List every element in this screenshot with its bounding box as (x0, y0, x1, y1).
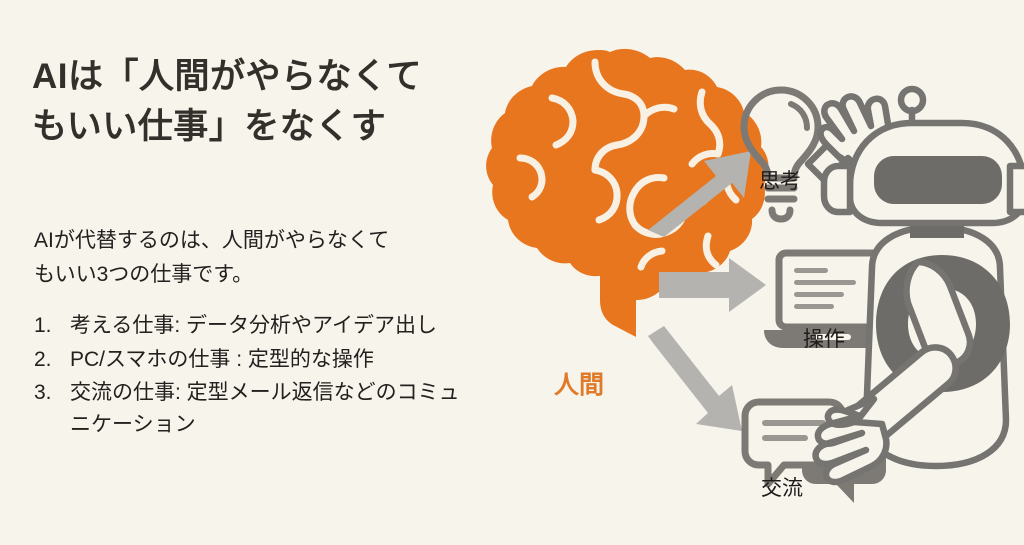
diagram-area: 人間 思考 操作 交流 (476, 0, 1024, 545)
list-item-text: 考える仕事: データ分析やアイデア出し (70, 310, 476, 342)
list-item-number: 3. (32, 377, 70, 409)
label-human: 人間 (554, 365, 604, 401)
list-item-text: 交流の仕事: 定型メール返信などのコミュニケーション (70, 377, 476, 440)
diagram-graphics (476, 0, 1024, 545)
list-item: 1. 考える仕事: データ分析やアイデア出し (32, 310, 476, 342)
list-item-text: PC/スマホの仕事 : 定型的な操作 (70, 344, 476, 376)
list-item-number: 1. (32, 310, 70, 342)
task-list: 1. 考える仕事: データ分析やアイデア出し 2. PC/スマホの仕事 : 定型… (32, 310, 476, 442)
label-communication: 交流 (761, 472, 803, 502)
label-thinking: 思考 (759, 165, 801, 195)
slide-canvas: AIは「人間がやらなくて もいい仕事」をなくす AIが代替するのは、人間がやらな… (0, 0, 1024, 545)
robot-visor (874, 156, 1002, 204)
label-operation: 操作 (803, 323, 845, 353)
page-title: AIは「人間がやらなくて もいい仕事」をなくす (32, 52, 472, 151)
arrow-down-right (648, 326, 742, 431)
list-item: 2. PC/スマホの仕事 : 定型的な操作 (32, 344, 476, 376)
intro-paragraph: AIが代替するのは、人間がやらなくて もいい3つの仕事です。 (34, 224, 470, 292)
robot-icon (808, 89, 1024, 482)
list-item-number: 2. (32, 344, 70, 376)
list-item: 3. 交流の仕事: 定型メール返信などのコミュニケーション (32, 377, 476, 440)
text-column: AIは「人間がやらなくて もいい仕事」をなくす AIが代替するのは、人間がやらな… (32, 52, 472, 151)
